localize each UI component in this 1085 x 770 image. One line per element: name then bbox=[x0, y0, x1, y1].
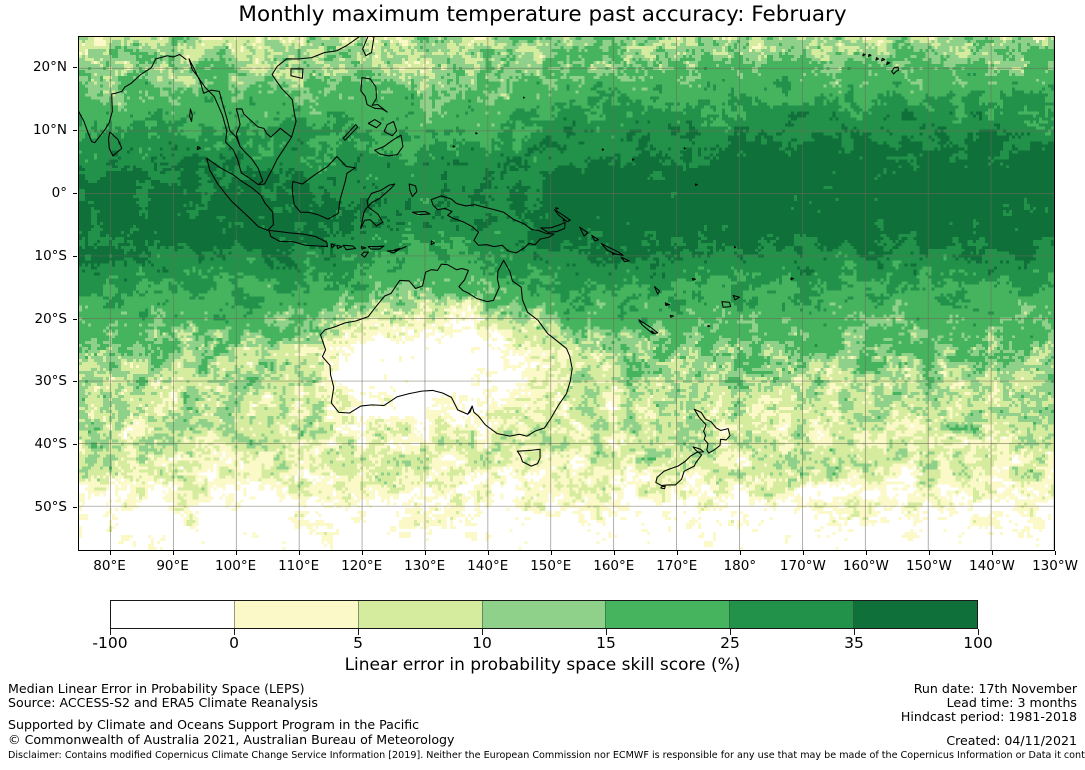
coastline-path bbox=[269, 230, 327, 246]
coastline-path bbox=[331, 244, 335, 248]
lon-tick-mark bbox=[299, 551, 300, 555]
footer-leps-note: Median Linear Error in Probability Space… bbox=[8, 681, 304, 696]
coastline-path bbox=[292, 157, 355, 220]
lon-tick-label: 170°E bbox=[656, 558, 697, 574]
footer-lead-time: Lead time: 3 months bbox=[947, 695, 1077, 710]
coastline-path bbox=[887, 62, 890, 64]
coastline-path bbox=[708, 325, 710, 326]
lon-tick-mark bbox=[173, 551, 174, 555]
footer-disclaimer: Disclaimer: Contains modified Copernicus… bbox=[8, 750, 1085, 761]
coastline-path bbox=[563, 220, 565, 221]
coastline-path bbox=[361, 252, 368, 257]
coastline-path bbox=[79, 103, 112, 143]
lon-tick-label: 180° bbox=[724, 558, 757, 574]
colorbar-segment bbox=[853, 601, 977, 628]
lon-tick-mark bbox=[740, 551, 741, 555]
lon-tick-mark bbox=[1055, 551, 1056, 555]
coastline-path bbox=[384, 121, 397, 135]
coastline-path bbox=[453, 146, 454, 147]
coastline-path bbox=[368, 120, 381, 128]
coastline-path bbox=[361, 184, 395, 228]
colorbar-tick-label: 10 bbox=[472, 634, 492, 652]
coastline-path bbox=[363, 37, 374, 56]
colorbar-tick-label: -100 bbox=[92, 634, 127, 652]
lon-tick-mark bbox=[803, 551, 804, 555]
coastline-path bbox=[695, 184, 697, 185]
coastline-path bbox=[882, 58, 885, 60]
coastline-path bbox=[375, 135, 403, 156]
coastline-path bbox=[670, 315, 673, 317]
coastline-path bbox=[343, 245, 356, 249]
lat-tick-mark bbox=[73, 444, 77, 445]
colorbar-segment bbox=[729, 601, 853, 628]
coastline-path bbox=[791, 278, 793, 280]
footer-copyright: © Commonwealth of Australia 2021, Austra… bbox=[8, 732, 454, 747]
coastline-path bbox=[651, 331, 653, 333]
lat-tick-label: 30°S bbox=[35, 373, 68, 389]
lon-tick-mark bbox=[110, 551, 111, 555]
coastline-path bbox=[361, 78, 387, 112]
colorbar-segment bbox=[358, 601, 482, 628]
footer-created-date: Created: 04/11/2021 bbox=[946, 733, 1077, 748]
coastline-path bbox=[639, 320, 658, 334]
colorbar-segment bbox=[234, 601, 358, 628]
coastline-path bbox=[272, 59, 296, 137]
colorbar-title: Linear error in probability space skill … bbox=[0, 655, 1085, 675]
footer-run-date: Run date: 17th November bbox=[914, 681, 1077, 696]
lon-tick-label: 150°W bbox=[906, 558, 952, 574]
coastline-path bbox=[734, 247, 735, 248]
lat-tick-mark bbox=[73, 193, 77, 194]
page-title: Monthly maximum temperature past accurac… bbox=[0, 2, 1085, 27]
coastline-path bbox=[612, 253, 614, 255]
lat-tick-mark bbox=[73, 381, 77, 382]
lon-tick-mark bbox=[614, 551, 615, 555]
lat-tick-label: 50°S bbox=[35, 499, 68, 515]
lat-tick-mark bbox=[73, 507, 77, 508]
map-plot-area[interactable] bbox=[78, 36, 1055, 551]
coastline-path bbox=[868, 55, 870, 57]
lat-tick-mark bbox=[73, 67, 77, 68]
coastline-path bbox=[368, 246, 384, 249]
lat-tick-label: 10°N bbox=[33, 122, 67, 138]
coastline-path bbox=[321, 260, 573, 436]
footer-source: Source: ACCESS-S2 and ERA5 Climate Reana… bbox=[8, 695, 318, 710]
lat-tick-mark bbox=[73, 319, 77, 320]
coastline-path bbox=[666, 304, 668, 305]
coastline-path bbox=[684, 148, 685, 149]
lon-tick-label: 130°W bbox=[1032, 558, 1078, 574]
colorbar-tick-label: 0 bbox=[229, 634, 239, 652]
lat-tick-mark bbox=[73, 256, 77, 257]
lon-tick-mark bbox=[992, 551, 993, 555]
lon-tick-label: 150°E bbox=[530, 558, 571, 574]
figure-root: Monthly maximum temperature past accurac… bbox=[0, 0, 1085, 770]
coastline-path bbox=[661, 486, 665, 489]
coastline-path bbox=[343, 125, 357, 141]
coastline-path bbox=[592, 235, 599, 241]
colorbar-segment bbox=[111, 601, 234, 628]
lon-tick-label: 130°E bbox=[404, 558, 445, 574]
colorbar-segment bbox=[605, 601, 729, 628]
coastline-path bbox=[337, 245, 342, 248]
coastline-path bbox=[476, 133, 477, 134]
coastline-path bbox=[722, 302, 731, 308]
coastline-path bbox=[694, 409, 730, 453]
lon-tick-label: 160°E bbox=[593, 558, 634, 574]
lon-tick-mark bbox=[929, 551, 930, 555]
coastline-path bbox=[412, 212, 430, 215]
lat-tick-label: 20°N bbox=[33, 59, 67, 75]
footer-support: Supported by Climate and Oceans Support … bbox=[8, 717, 419, 732]
lat-tick-label: 40°S bbox=[35, 436, 68, 452]
coastline-path bbox=[361, 247, 365, 249]
coastlines bbox=[79, 37, 899, 489]
coastline-path bbox=[541, 222, 565, 232]
lon-tick-label: 110°E bbox=[278, 558, 319, 574]
coastline-path bbox=[197, 146, 200, 149]
lon-tick-mark bbox=[488, 551, 489, 555]
lon-tick-label: 100°E bbox=[215, 558, 256, 574]
lon-tick-label: 90°E bbox=[156, 558, 188, 574]
lat-tick-mark bbox=[73, 130, 77, 131]
coastline-path bbox=[733, 295, 739, 299]
lon-tick-label: 120°E bbox=[341, 558, 382, 574]
lon-tick-label: 140°W bbox=[969, 558, 1015, 574]
colorbar-tick-label: 35 bbox=[844, 634, 864, 652]
coastline-path bbox=[190, 109, 193, 122]
lat-tick-label: 10°S bbox=[35, 248, 68, 264]
lat-tick-label: 0° bbox=[52, 185, 67, 201]
coastline-path bbox=[863, 54, 865, 56]
coastline-path bbox=[692, 278, 695, 280]
colorbar-tick-label: 15 bbox=[596, 634, 616, 652]
coastline-path bbox=[291, 69, 303, 78]
coastline-path bbox=[876, 58, 878, 60]
coastline-path bbox=[633, 159, 634, 160]
coastline-path bbox=[517, 449, 540, 466]
colorbar-tick-label: 100 bbox=[963, 634, 993, 652]
colorbar[interactable] bbox=[110, 600, 978, 629]
lon-tick-mark bbox=[551, 551, 552, 555]
coastline-path bbox=[524, 97, 525, 98]
lon-tick-label: 140°E bbox=[467, 558, 508, 574]
coastline-path bbox=[655, 287, 660, 294]
lon-tick-mark bbox=[866, 551, 867, 555]
coastline-path bbox=[409, 184, 417, 197]
coastline-path bbox=[112, 55, 186, 112]
coastline-path bbox=[556, 208, 558, 209]
lat-tick-label: 20°S bbox=[35, 311, 68, 327]
lon-tick-mark bbox=[677, 551, 678, 555]
colorbar-tick-label: 25 bbox=[720, 634, 740, 652]
coastline-path bbox=[580, 227, 588, 236]
lon-tick-mark bbox=[362, 551, 363, 555]
coastline-path bbox=[236, 109, 291, 185]
lon-tick-label: 80°E bbox=[93, 558, 125, 574]
lon-tick-label: 160°W bbox=[843, 558, 889, 574]
coastline-path bbox=[656, 447, 704, 486]
coastline-path bbox=[431, 241, 434, 245]
lon-tick-label: 170°W bbox=[780, 558, 826, 574]
coastline-path bbox=[555, 210, 571, 222]
lon-tick-mark bbox=[236, 551, 237, 555]
footer-hindcast-period: Hindcast period: 1981-2018 bbox=[901, 709, 1077, 724]
coastline-path bbox=[602, 149, 603, 150]
colorbar-segment bbox=[482, 601, 606, 628]
coastline-path bbox=[621, 257, 629, 261]
coastline-path bbox=[431, 196, 554, 253]
colorbar-tick-label: 5 bbox=[353, 634, 363, 652]
map-overlay bbox=[79, 37, 1054, 550]
lon-tick-mark bbox=[425, 551, 426, 555]
